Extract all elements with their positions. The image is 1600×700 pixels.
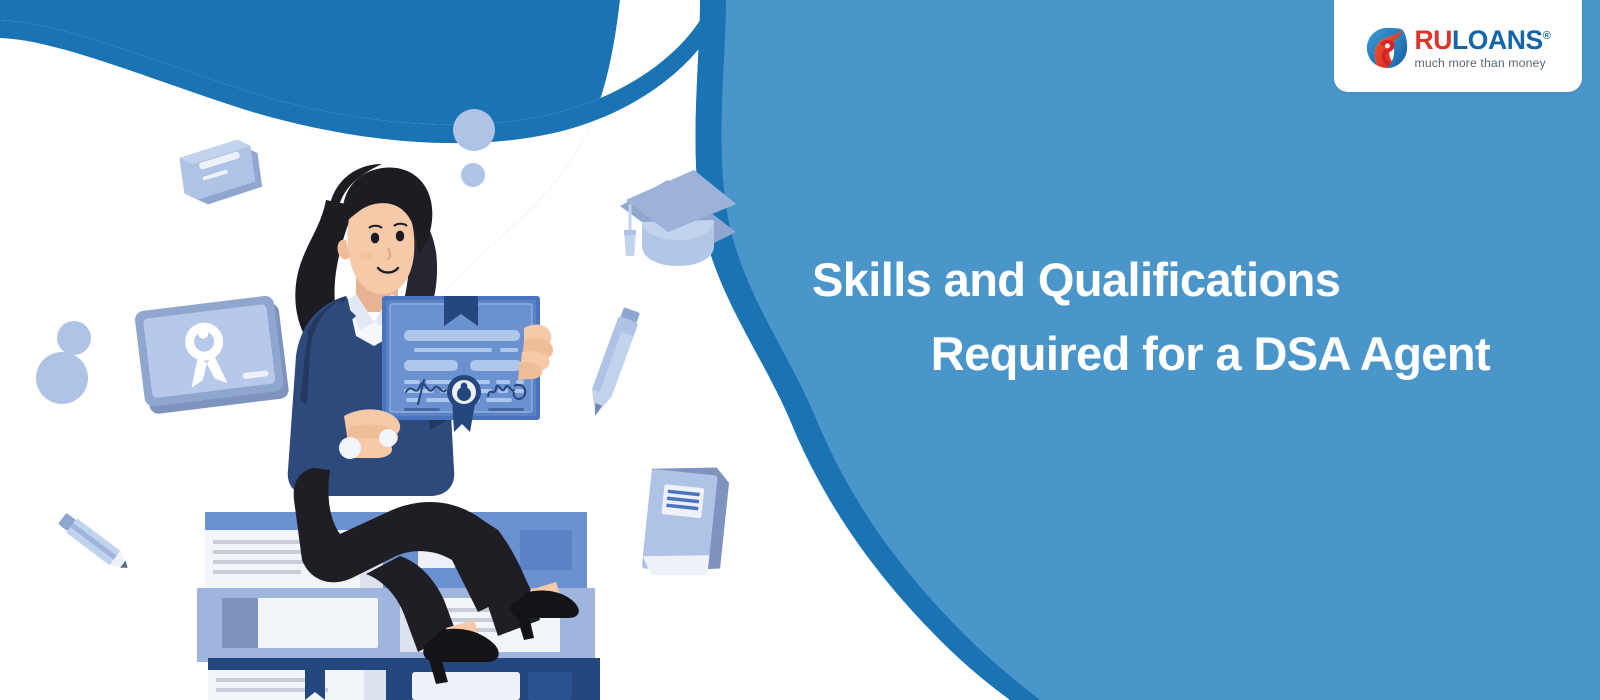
book-stack-bottom <box>208 658 600 700</box>
logo-inner: RULOANS® much more than money <box>1366 23 1551 70</box>
decor-circle-large <box>453 109 495 151</box>
ruloans-logo-mark <box>1366 27 1408 69</box>
logo-wordmark: RULOANS® <box>1415 27 1551 54</box>
headline-block: Skills and Qualifications Required for a… <box>812 243 1532 391</box>
decor-circle-left-large <box>36 352 88 404</box>
pencil-icon <box>57 511 133 575</box>
headline-line-2: Required for a DSA Agent <box>812 317 1532 391</box>
logo-text: RULOANS® much more than money <box>1415 27 1551 70</box>
eye-right <box>396 231 404 242</box>
card-icon <box>178 137 264 207</box>
logo-word-loans: LOANS <box>1452 25 1543 55</box>
decor-circle-small <box>461 163 485 187</box>
headline-line-1: Skills and Qualifications <box>812 243 1532 317</box>
award-frame-icon <box>134 294 290 415</box>
logo-tagline: much more than money <box>1415 57 1551 69</box>
registered-trademark-icon: ® <box>1543 30 1551 42</box>
banner-root: Skills and Qualifications Required for a… <box>0 0 1600 700</box>
graduation-cap-icon <box>620 170 736 266</box>
book-icon <box>641 461 730 583</box>
logo-word-ru: RU <box>1415 25 1452 55</box>
logo-card[interactable]: RULOANS® much more than money <box>1334 0 1582 92</box>
jacket-button <box>379 429 397 447</box>
certificate <box>382 296 540 432</box>
decor-circle-left-small <box>57 321 91 355</box>
pen-icon <box>584 306 642 418</box>
eye-left <box>371 233 379 244</box>
